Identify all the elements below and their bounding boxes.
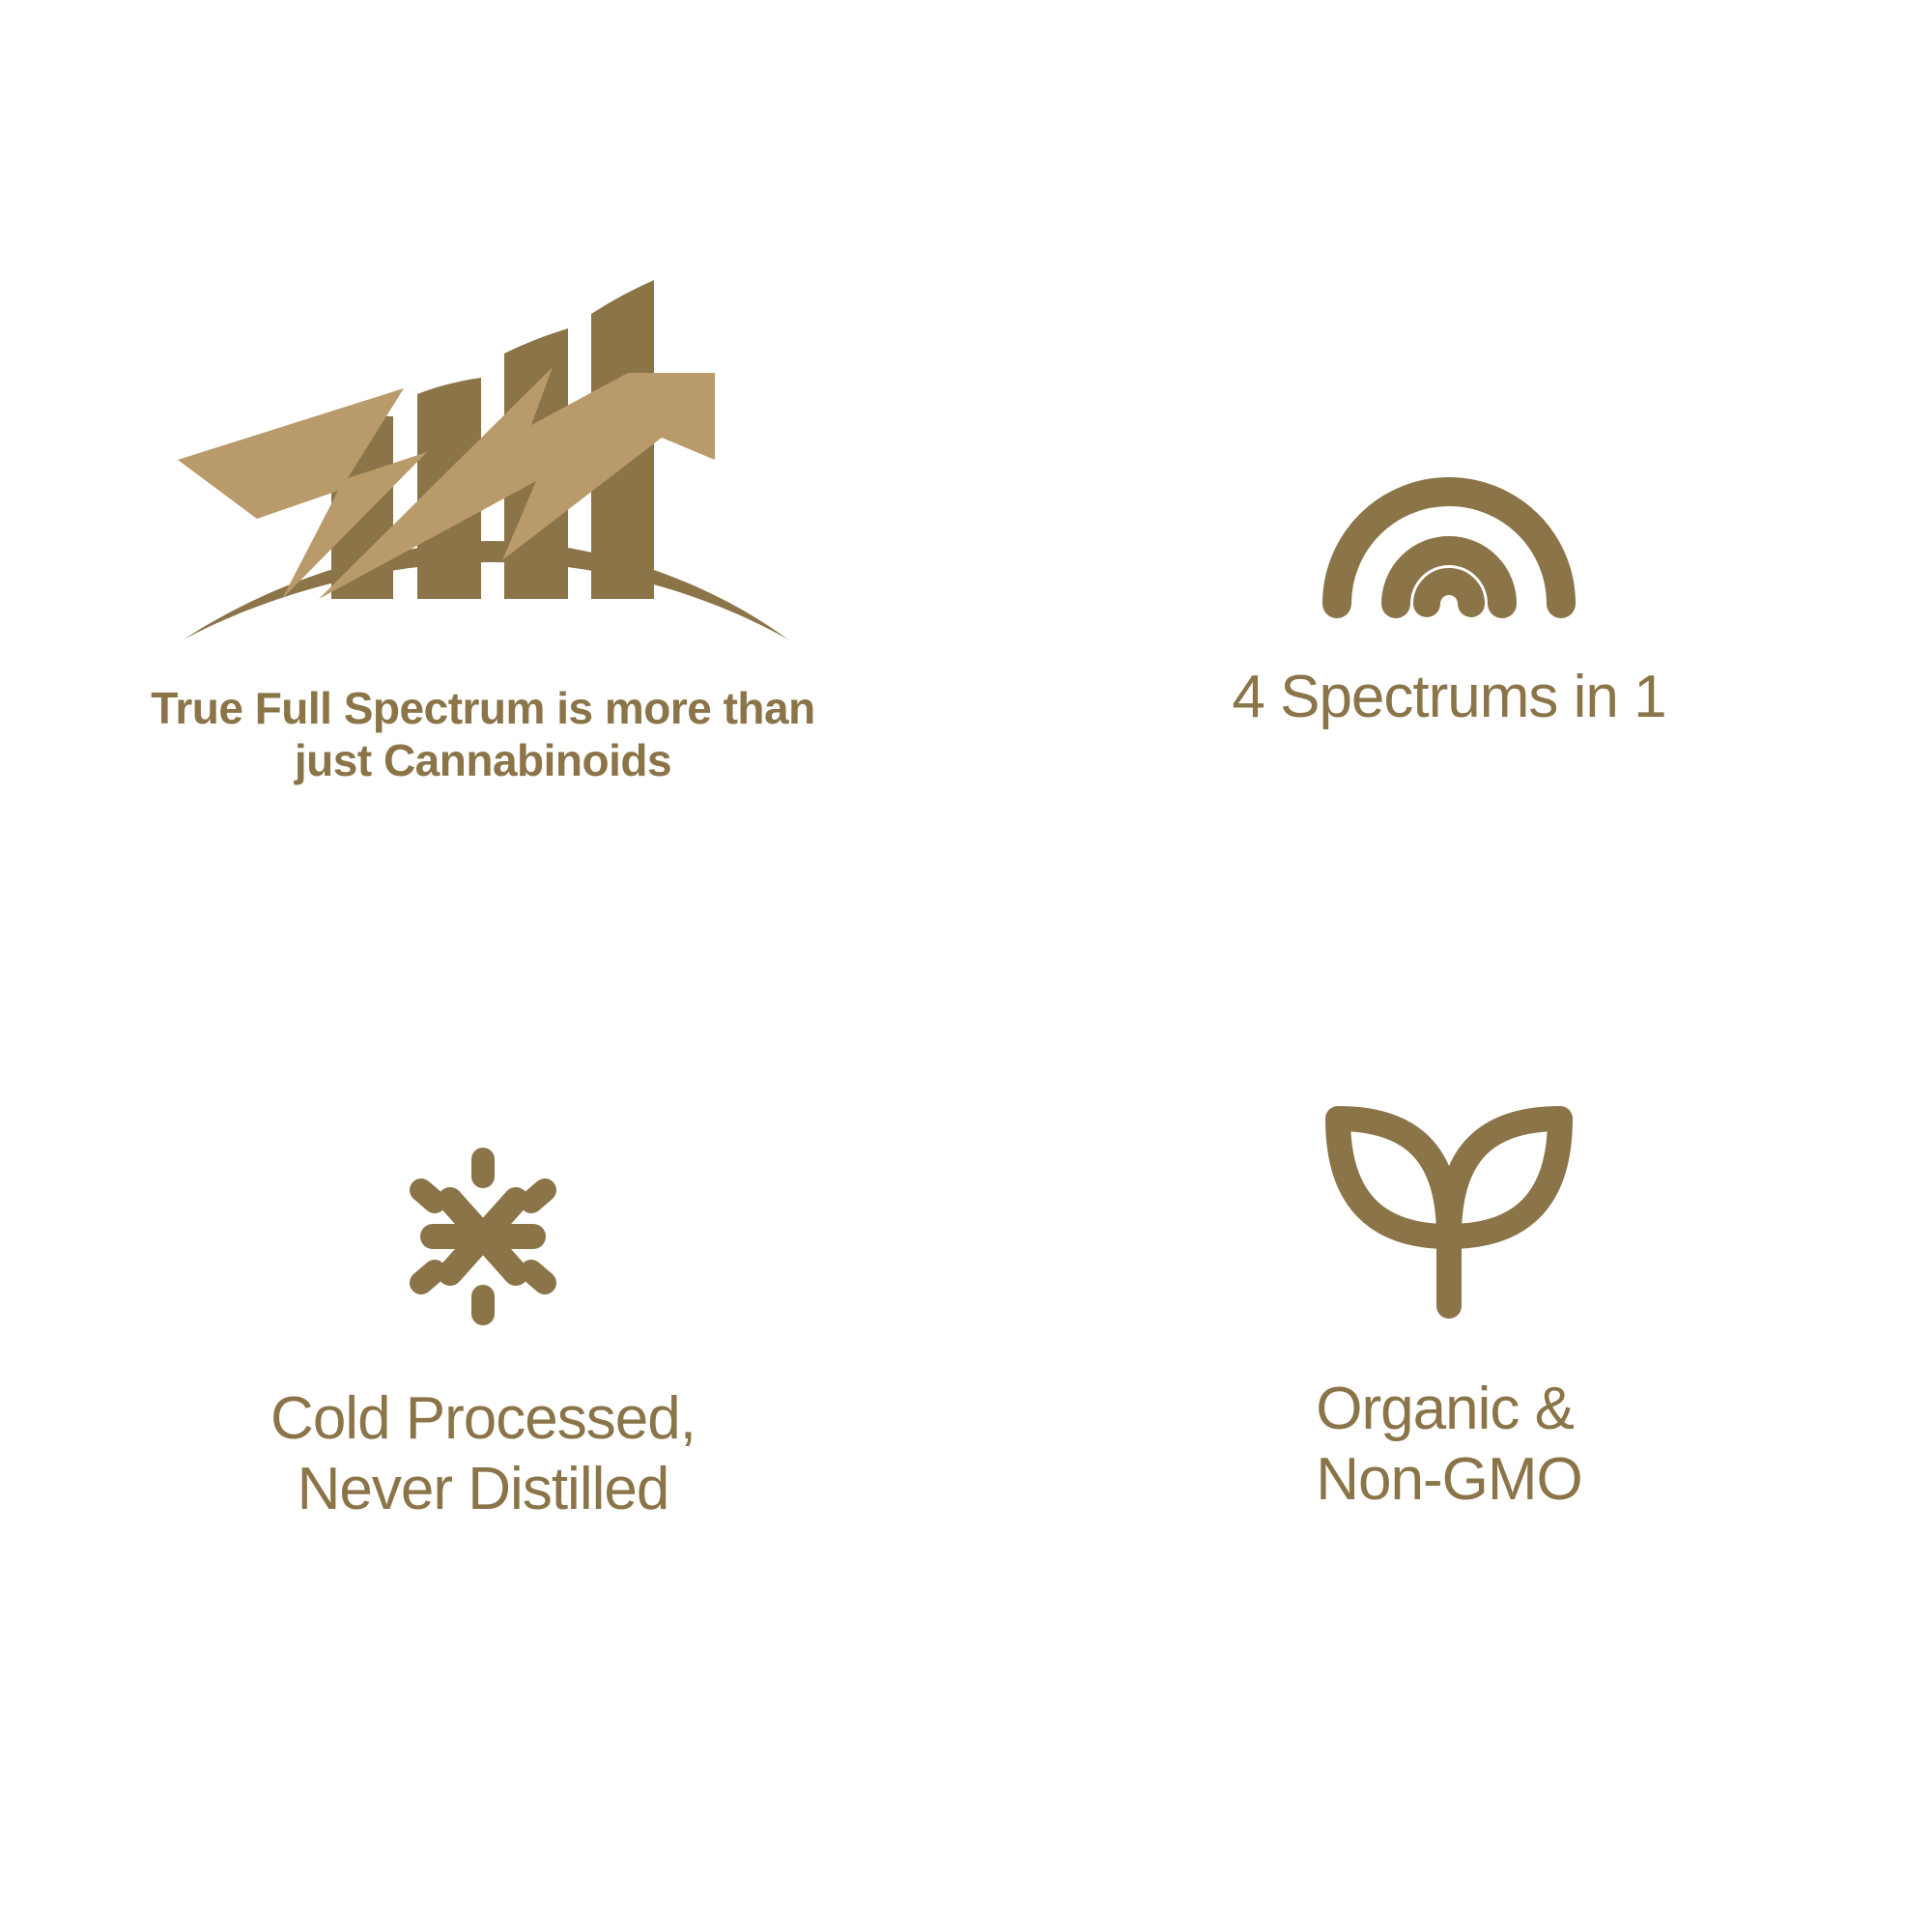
- feature-card-true-full-spectrum: True Full Spectrum is more than just Can…: [0, 39, 966, 985]
- feature-caption-four-spectrums: 4 Spectrums in 1: [1232, 662, 1665, 732]
- sprout-leaves-icon: [1319, 1092, 1579, 1323]
- feature-card-organic-non-gmo: Organic & Non-GMO: [966, 985, 1932, 1932]
- rainbow-arcs-icon: [1314, 478, 1584, 623]
- feature-caption-cold-processed: Cold Processed, Never Distilled: [270, 1383, 696, 1524]
- snowflake-asterisk-icon: [386, 1140, 580, 1333]
- growth-chart-arrow-icon: [174, 280, 792, 647]
- feature-card-four-spectrums: 4 Spectrums in 1: [966, 39, 1932, 985]
- feature-badge-grid: True Full Spectrum is more than just Can…: [0, 0, 1932, 1932]
- feature-card-cold-processed: Cold Processed, Never Distilled: [0, 985, 966, 1932]
- feature-caption-organic-non-gmo: Organic & Non-GMO: [1316, 1374, 1581, 1515]
- feature-caption-true-full-spectrum: True Full Spectrum is more than just Can…: [151, 682, 814, 787]
